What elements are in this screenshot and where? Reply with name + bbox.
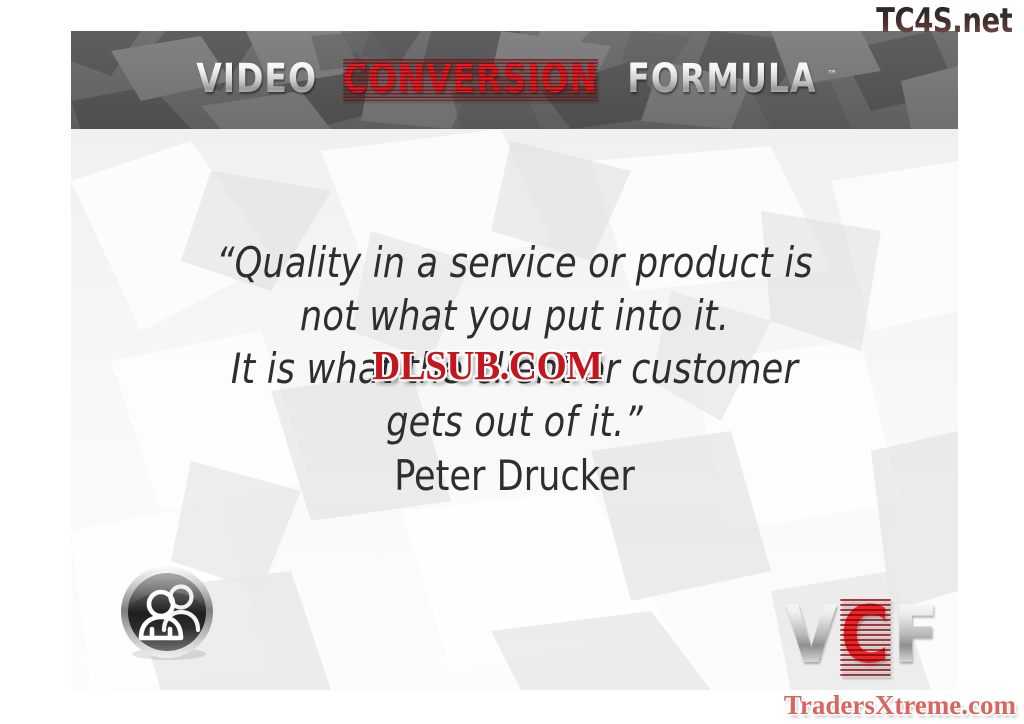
vcf-letter-v: V [785, 596, 838, 676]
quote-line-4: gets out of it.” [102, 395, 927, 448]
quote-attribution: Peter Drucker [102, 448, 927, 504]
logo-word-formula: FORMULA [628, 57, 817, 101]
users-icon-graphic [119, 564, 216, 661]
vcf-logo: VCF [784, 596, 941, 676]
slide-header-band: VIDEOCONVERSIONFORMULA™ [71, 31, 958, 129]
quote-line-1: “Quality in a service or product is [102, 236, 927, 289]
slide-canvas: VIDEOCONVERSIONFORMULA™ “Quality in a se… [71, 31, 958, 690]
watermark-dlsub: DLSUB.COM [372, 341, 603, 389]
logo-word-video: VIDEO [196, 57, 317, 101]
trademark-symbol: ™ [827, 68, 838, 81]
users-icon[interactable] [119, 564, 216, 661]
quote-line-2: not what you put into it. [102, 289, 927, 342]
brand-tradersxtreme: TradersXtreme.com [784, 690, 1016, 720]
brand-tc4s: TC4S.net [876, 2, 1012, 40]
vcf-letter-f: F [893, 596, 940, 676]
logo-word-conversion: CONVERSION [343, 57, 598, 101]
product-logo: VIDEOCONVERSIONFORMULA™ [71, 53, 958, 101]
vcf-letter-c: C [841, 596, 891, 676]
